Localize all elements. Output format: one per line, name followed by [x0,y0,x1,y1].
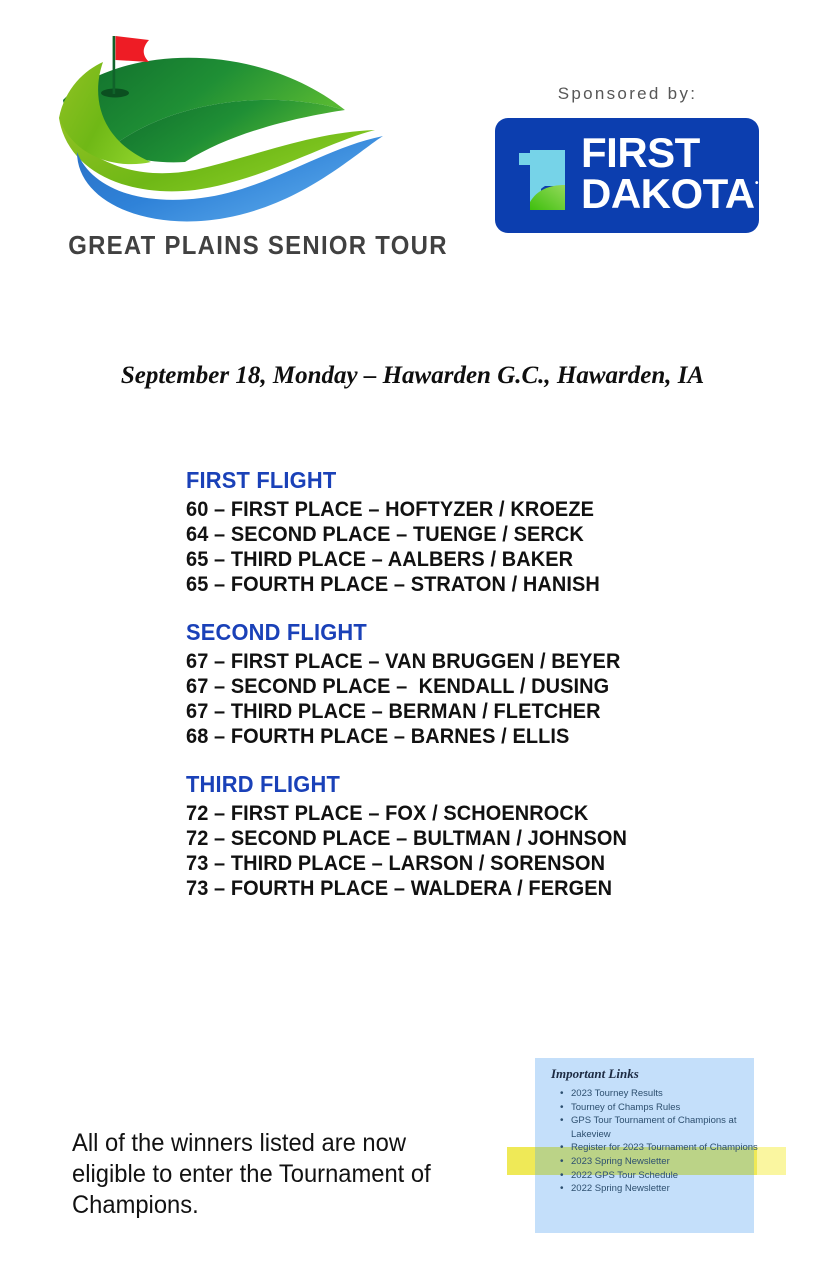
flight-result-row: 65 – THIRD PLACE – AALBERS / BAKER [186,547,680,572]
flight-result-row: 72 – FIRST PLACE – FOX / SCHOENROCK [186,801,680,826]
tour-logo-wordmark: GREAT PLAINS SENIOR TOUR [68,230,372,261]
important-links-list: 2023 Tourney Results Tourney of Champs R… [555,1087,761,1196]
eligibility-note: All of the winners listed are now eligib… [72,1128,471,1221]
list-item[interactable]: Tourney of Champs Rules [571,1101,761,1115]
registered-trademark-icon: • [755,179,758,189]
flight-block-third: THIRD FLIGHT 72 – FIRST PLACE – FOX / SC… [186,771,706,901]
first-dakota-numeral-one-icon [517,140,569,212]
flight-title-second: SECOND FLIGHT [186,619,680,646]
flight-result-row: 67 – FIRST PLACE – VAN BRUGGEN / BEYER [186,649,680,674]
sponsored-by-label: Sponsored by: [480,84,775,104]
flight-block-second: SECOND FLIGHT 67 – FIRST PLACE – VAN BRU… [186,619,706,749]
flight-result-row: 64 – SECOND PLACE – TUENGE / SERCK [186,522,680,547]
event-heading: September 18, Monday – Hawarden G.C., Ha… [0,362,825,390]
flight-title-first: FIRST FLIGHT [186,467,680,494]
first-dakota-wordmark-line1: FIRST [581,132,751,173]
flight-result-row: 67 – THIRD PLACE – BERMAN / FLETCHER [186,699,680,724]
page-header: GREAT PLAINS SENIOR TOUR Sponsored by: [0,0,825,300]
flight-result-row: 60 – FIRST PLACE – HOFTYZER / KROEZE [186,497,680,522]
dakota-text: DAKOTA [581,170,755,217]
list-item[interactable]: 2022 GPS Tour Schedule [571,1169,761,1183]
list-item[interactable]: 2023 Spring Newsletter [571,1155,761,1169]
flight-result-row: 73 – THIRD PLACE – LARSON / SORENSON [186,851,680,876]
important-links-title: Important Links [551,1066,639,1082]
flight-result-row: 72 – SECOND PLACE – BULTMAN / JOHNSON [186,826,680,851]
list-item[interactable]: 2023 Tourney Results [571,1087,761,1101]
flight-result-row: 65 – FOURTH PLACE – STRATON / HANISH [186,572,680,597]
golf-green-swoosh-icon [55,30,385,230]
flight-result-row: 68 – FOURTH PLACE – BARNES / ELLIS [186,724,680,749]
first-dakota-wordmark-line2: DAKOTA• [581,173,751,214]
flight-block-first: FIRST FLIGHT 60 – FIRST PLACE – HOFTYZER… [186,467,706,597]
list-item[interactable]: GPS Tour Tournament of Champions at Lake… [571,1114,761,1141]
flight-result-row: 67 – SECOND PLACE – KENDALL / DUSING [186,674,680,699]
list-item[interactable]: 2022 Spring Newsletter [571,1182,761,1196]
sponsor-block: Sponsored by: FIRST DAKOTA• [480,84,775,104]
list-item[interactable]: Register for 2023 Tournament of Champion… [571,1141,761,1155]
tournament-results: FIRST FLIGHT 60 – FIRST PLACE – HOFTYZER… [186,467,706,923]
great-plains-senior-tour-logo: GREAT PLAINS SENIOR TOUR [55,30,385,275]
flight-title-third: THIRD FLIGHT [186,771,680,798]
first-dakota-bank-logo[interactable]: FIRST DAKOTA• [495,118,759,233]
important-links-widget: Important Links 2023 Tourney Results Tou… [535,1058,754,1233]
flight-result-row: 73 – FOURTH PLACE – WALDERA / FERGEN [186,876,680,901]
first-dakota-wordmark: FIRST DAKOTA• [581,132,751,214]
